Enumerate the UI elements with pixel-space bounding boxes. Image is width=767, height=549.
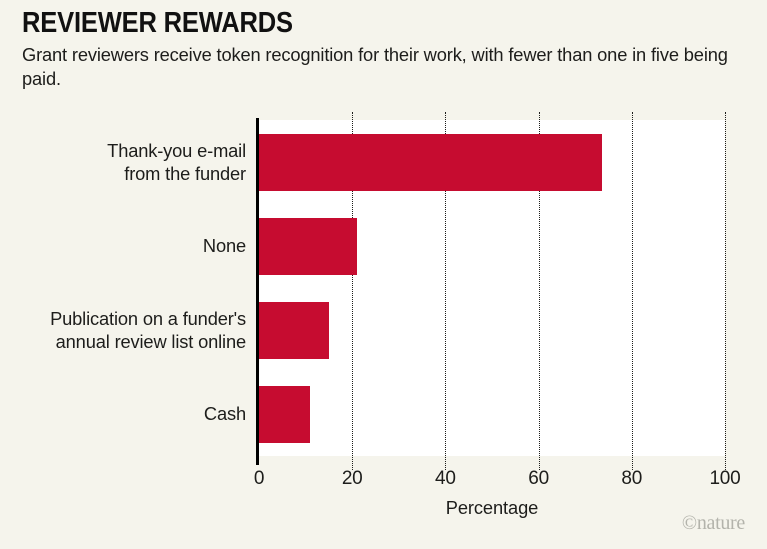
x-axis-title: Percentage xyxy=(259,497,725,519)
x-tick-label-40: 40 xyxy=(435,468,456,490)
chart-subtitle: Grant reviewers receive token recognitio… xyxy=(22,43,734,90)
x-tick-label-0: 0 xyxy=(254,468,264,490)
bar xyxy=(259,218,357,275)
bar xyxy=(259,386,310,443)
y-axis-label-line: Thank-you e-mail xyxy=(0,139,246,162)
bar-series xyxy=(259,120,725,456)
y-axis-label-line: Cash xyxy=(0,402,246,425)
y-axis-labels: Thank-you e-mailfrom the funderNonePubli… xyxy=(0,120,246,456)
y-axis-label: Thank-you e-mailfrom the funder xyxy=(0,139,246,185)
y-axis-label: None xyxy=(0,234,246,257)
y-axis-label-line: from the funder xyxy=(0,162,246,185)
bar xyxy=(259,302,329,359)
y-axis-label: Publication on a funder'sannual review l… xyxy=(0,307,246,353)
x-tick-label-80: 80 xyxy=(621,468,642,490)
x-tick-label-20: 20 xyxy=(342,468,363,490)
bar xyxy=(259,134,602,191)
x-tick-label-100: 100 xyxy=(709,468,740,490)
gridline-100 xyxy=(725,112,726,470)
y-axis-label-line: None xyxy=(0,234,246,257)
y-axis-label: Cash xyxy=(0,402,246,425)
y-axis-label-line: annual review list online xyxy=(0,330,246,353)
x-tick-label-60: 60 xyxy=(528,468,549,490)
y-axis-label-line: Publication on a funder's xyxy=(0,307,246,330)
chart-header: REVIEWER REWARDS Grant reviewers receive… xyxy=(22,8,746,90)
x-axis-tick-labels: 020406080100 xyxy=(0,468,767,496)
nature-logo-watermark: ©nature xyxy=(682,512,745,535)
page-title: REVIEWER REWARDS xyxy=(22,8,659,38)
